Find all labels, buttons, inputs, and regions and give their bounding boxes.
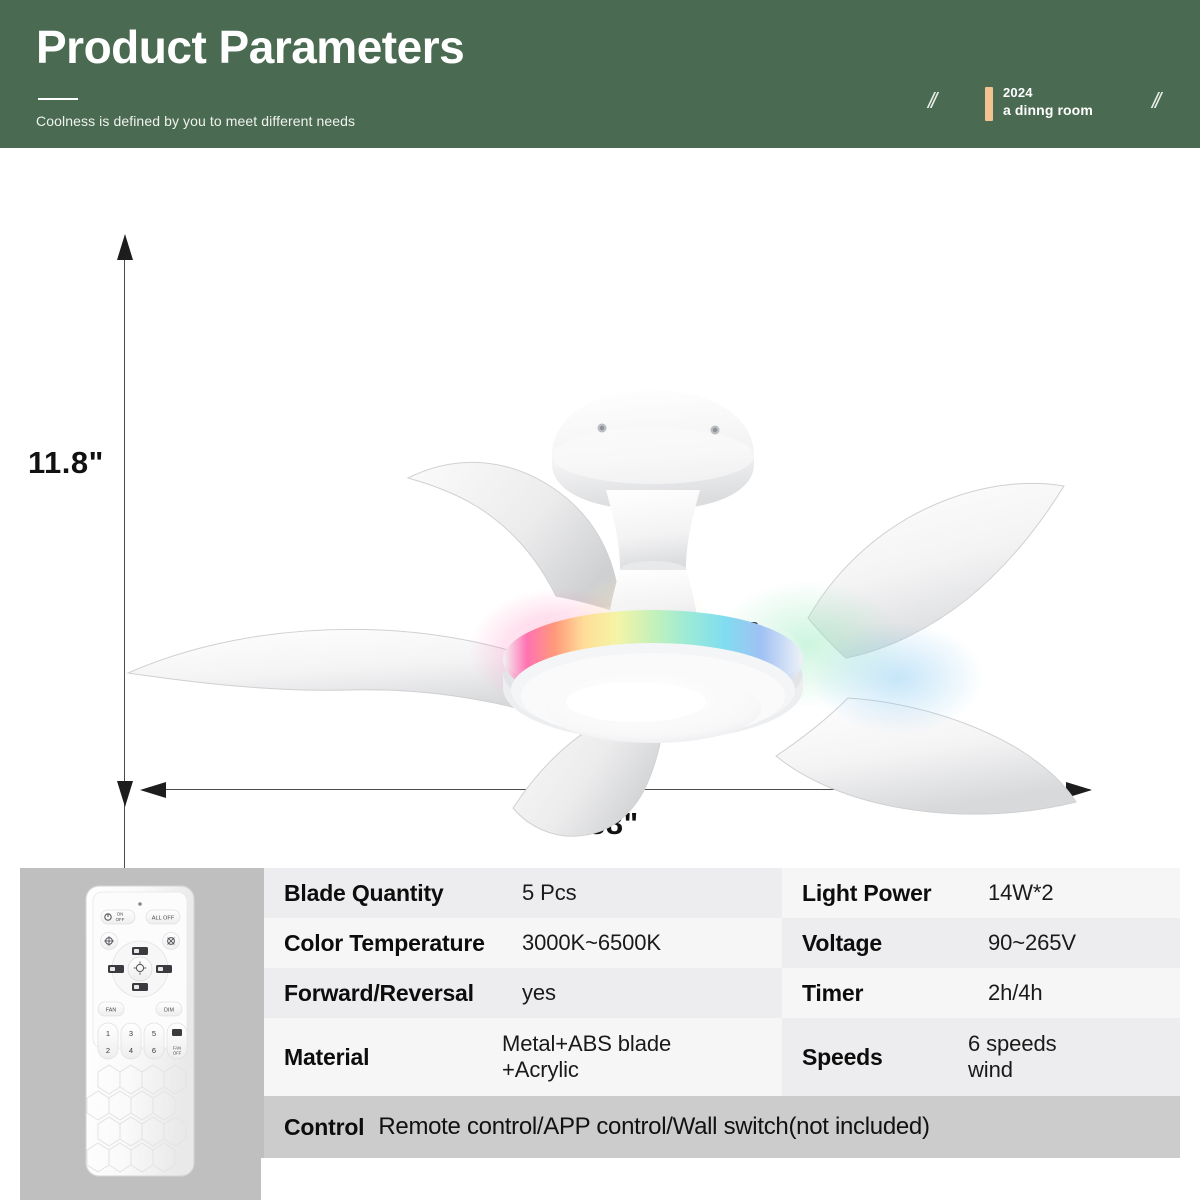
svg-text:OFF: OFF bbox=[116, 917, 125, 922]
param-label: Speeds bbox=[782, 1044, 968, 1071]
param-label: Voltage bbox=[782, 930, 988, 957]
badge-year: 2024 bbox=[1003, 85, 1093, 102]
header-subtitle: Coolness is defined by you to meet diffe… bbox=[36, 113, 355, 129]
param-label-control: Control bbox=[284, 1114, 364, 1141]
table-cell-color-temperature: Color Temperature 3000K~6500K bbox=[264, 918, 782, 968]
param-label: Forward/Reversal bbox=[264, 980, 522, 1007]
param-label: Color Temperature bbox=[264, 930, 522, 957]
param-value: 90~265V bbox=[988, 930, 1076, 956]
svg-text:5: 5 bbox=[152, 1029, 156, 1038]
slash-decoration-right: // bbox=[1152, 88, 1158, 114]
svg-text:6: 6 bbox=[152, 1046, 156, 1055]
param-value: 14W*2 bbox=[988, 880, 1054, 906]
param-value: Metal+ABS blade +Acrylic bbox=[502, 1031, 671, 1083]
badge-room: a dinng room bbox=[1003, 102, 1093, 120]
rgb-light-ring bbox=[503, 604, 803, 743]
svg-text:1: 1 bbox=[106, 1029, 110, 1038]
height-arrow-up-icon bbox=[117, 234, 133, 260]
svg-text:ALL OFF: ALL OFF bbox=[152, 916, 175, 922]
table-row: Color Temperature 3000K~6500K Voltage 90… bbox=[261, 918, 1180, 968]
specifications-section: ON OFF ALL OFF bbox=[0, 868, 1200, 1200]
table-cell-light-power: Light Power 14W*2 bbox=[782, 868, 1180, 918]
param-label: Blade Quantity bbox=[264, 880, 522, 907]
param-value: yes bbox=[522, 980, 556, 1006]
table-cell-material: Material Metal+ABS blade +Acrylic bbox=[264, 1018, 782, 1096]
table-cell-voltage: Voltage 90~265V bbox=[782, 918, 1180, 968]
table-cell-forward-reversal: Forward/Reversal yes bbox=[264, 968, 782, 1018]
param-label: Material bbox=[264, 1044, 502, 1071]
slash-decoration-left: // bbox=[928, 88, 934, 114]
svg-text:4: 4 bbox=[129, 1046, 133, 1055]
parameter-table: Blade Quantity 5 Pcs Light Power 14W*2 C… bbox=[261, 868, 1180, 1200]
table-cell-blade-quantity: Blade Quantity 5 Pcs bbox=[264, 868, 782, 918]
svg-text:DIM: DIM bbox=[164, 1008, 174, 1014]
param-label: Light Power bbox=[782, 880, 988, 907]
param-value: 2h/4h bbox=[988, 980, 1043, 1006]
table-cell-speeds: Speeds 6 speeds wind bbox=[782, 1018, 1180, 1096]
param-value-control: Remote control/APP control/Wall switch(n… bbox=[378, 1113, 929, 1141]
svg-text:OFF: OFF bbox=[173, 1051, 182, 1056]
svg-text:2: 2 bbox=[106, 1046, 110, 1055]
product-image-area: 11.8" 38" bbox=[0, 148, 1200, 863]
page-title: Product Parameters bbox=[36, 22, 464, 73]
param-value: 3000K~6500K bbox=[522, 930, 661, 956]
title-divider bbox=[38, 98, 78, 100]
table-row: Blade Quantity 5 Pcs Light Power 14W*2 bbox=[261, 868, 1180, 918]
svg-text:3: 3 bbox=[129, 1029, 133, 1038]
param-value: 6 speeds wind bbox=[968, 1031, 1057, 1083]
badge-accent-bar bbox=[985, 87, 993, 121]
remote-control-image: ON OFF ALL OFF bbox=[20, 868, 261, 1200]
height-dimension-label: 11.8" bbox=[28, 445, 104, 481]
param-label: Timer bbox=[782, 980, 988, 1007]
ceiling-fan-product-image bbox=[108, 278, 1108, 858]
param-value: 5 Pcs bbox=[522, 880, 577, 906]
table-cell-timer: Timer 2h/4h bbox=[782, 968, 1180, 1018]
table-row: Material Metal+ABS blade +Acrylic Speeds… bbox=[261, 1018, 1180, 1096]
svg-text:FAN: FAN bbox=[106, 1008, 117, 1014]
table-row: Forward/Reversal yes Timer 2h/4h bbox=[261, 968, 1180, 1018]
table-row-control: Control Remote control/APP control/Wall … bbox=[261, 1096, 1180, 1158]
page-header: Product Parameters Coolness is defined b… bbox=[0, 0, 1200, 148]
header-badge: 2024 a dinng room bbox=[1003, 85, 1093, 120]
